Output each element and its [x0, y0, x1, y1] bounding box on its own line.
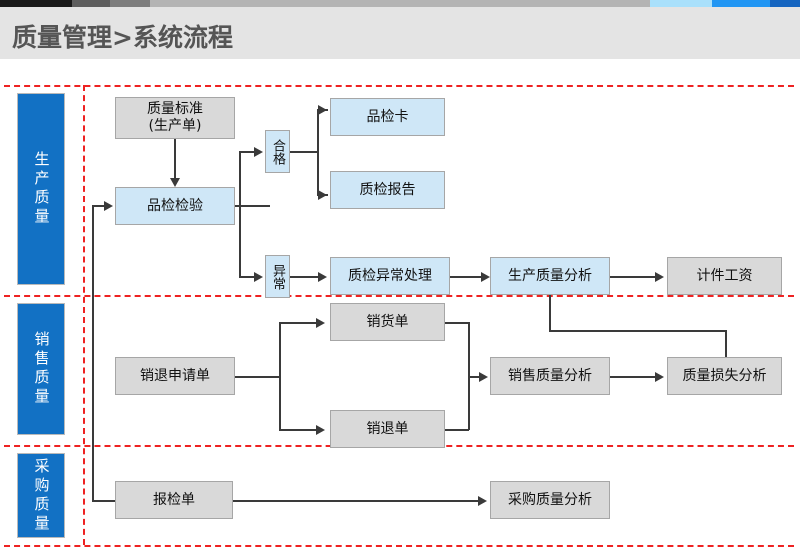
- arrowhead-to-return-order: [316, 425, 325, 435]
- arrowhead-to-quality-loss: [655, 372, 664, 382]
- flow-diagram-canvas: 生产质量 销售质量 采购质量 质量标准 (生产单) 品检检验 合格 异常 品检卡…: [0, 60, 800, 554]
- node-production-quality-analysis[interactable]: 生产质量分析: [490, 257, 610, 295]
- strip-seg-3: [110, 0, 150, 7]
- section-divider-bottom: [4, 545, 794, 547]
- section-label-production-text: 生产质量: [31, 151, 52, 227]
- connector-request-to-purchase-analysis: [233, 500, 481, 502]
- connector-inspection-branch-trunk: [239, 151, 241, 277]
- connector-pass-out: [290, 151, 318, 153]
- connector-to-return-order: [279, 429, 319, 431]
- node-inspection-request[interactable]: 报检单: [115, 481, 233, 519]
- arrowhead-to-piece-rate-wage: [655, 272, 664, 282]
- section-label-purchase: 采购质量: [17, 453, 65, 538]
- strip-seg-7: [770, 0, 800, 7]
- node-inspection-report[interactable]: 质检报告: [330, 171, 445, 209]
- arrowhead-to-sales-analysis: [479, 372, 488, 382]
- node-pass-text: 合格: [270, 139, 285, 165]
- section-divider-1: [4, 295, 794, 297]
- section-label-purchase-text: 采购质量: [31, 458, 52, 534]
- sidebar-divider: [83, 85, 85, 545]
- node-abnormal[interactable]: 异常: [265, 255, 290, 298]
- connector-prod-analysis-down: [549, 295, 551, 331]
- section-divider-top: [4, 85, 794, 87]
- arrowhead-to-abnormal: [254, 272, 263, 282]
- strip-seg-6: [712, 0, 770, 7]
- section-label-production: 生产质量: [17, 93, 65, 285]
- node-sales-order[interactable]: 销货单: [330, 303, 445, 341]
- strip-seg-1: [0, 0, 72, 7]
- connector-purchase-feed-vertical: [92, 206, 94, 501]
- connector-return-request-out: [235, 376, 280, 378]
- strip-seg-4: [150, 0, 650, 7]
- arrowhead-to-inspection-report: [318, 190, 327, 200]
- node-inspection-card[interactable]: 品检卡: [330, 98, 445, 136]
- node-sales-quality-analysis[interactable]: 销售质量分析: [490, 357, 610, 395]
- connector-purchase-feed-bottom: [92, 500, 116, 502]
- node-abnormal-handling[interactable]: 质检异常处理: [330, 257, 450, 295]
- node-purchase-quality-analysis[interactable]: 采购质量分析: [490, 481, 610, 519]
- connector-sales-order-merge: [445, 322, 469, 324]
- node-piece-rate-wage[interactable]: 计件工资: [667, 257, 782, 295]
- top-color-strip: [0, 0, 800, 7]
- section-label-sales: 销售质量: [17, 303, 65, 435]
- arrowhead-to-pass: [254, 147, 263, 157]
- arrowhead-to-purchase-analysis: [478, 496, 487, 506]
- connector-return-order-merge: [445, 429, 469, 431]
- connector-pass-split-trunk: [317, 109, 319, 195]
- header-bar: 质量管理>系统流程: [0, 7, 800, 60]
- arrowhead-into-inspection: [104, 201, 113, 211]
- strip-seg-5: [650, 0, 712, 7]
- node-return-request[interactable]: 销退申请单: [115, 357, 235, 395]
- connector-prod-analysis-across: [549, 330, 726, 332]
- node-inspection[interactable]: 品检检验: [115, 187, 235, 225]
- arrowhead-standard-to-inspection: [170, 178, 180, 187]
- connector-sales-analysis-to-loss: [610, 376, 658, 378]
- arrowhead-to-sales-order: [316, 318, 325, 328]
- arrowhead-to-prod-analysis: [481, 272, 490, 282]
- connector-prod-analysis-to-wage: [610, 276, 658, 278]
- arrowhead-to-inspection-card: [318, 105, 327, 115]
- node-quality-standard[interactable]: 质量标准 (生产单): [115, 97, 235, 139]
- connector-standard-to-inspection: [174, 139, 176, 179]
- arrowhead-to-abnormal-handling: [318, 272, 327, 282]
- connector-to-sales-order: [279, 322, 319, 324]
- connector-return-request-split: [279, 322, 281, 430]
- node-return-order[interactable]: 销退单: [330, 410, 445, 448]
- node-quality-loss-analysis[interactable]: 质量损失分析: [667, 357, 782, 395]
- section-label-sales-text: 销售质量: [31, 331, 52, 407]
- node-pass[interactable]: 合格: [265, 130, 290, 173]
- page-title: 质量管理>系统流程: [12, 18, 233, 54]
- strip-seg-2: [72, 0, 110, 7]
- node-abnormal-text: 异常: [270, 264, 285, 290]
